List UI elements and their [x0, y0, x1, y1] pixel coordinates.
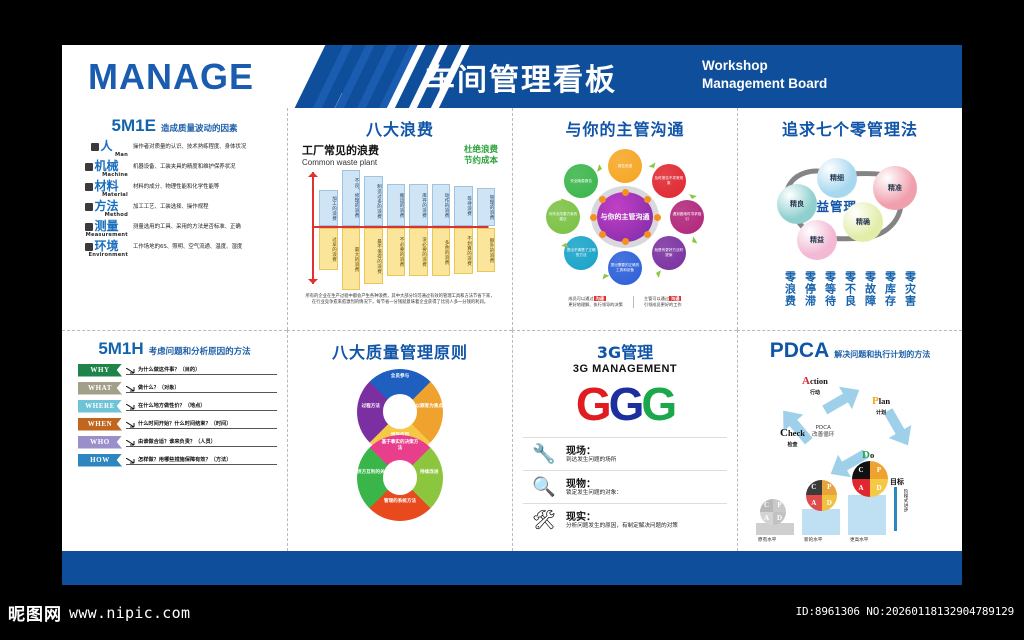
- panel-3g-title: 3G管理: [523, 339, 727, 363]
- kanban-board: MANAGE 车间管理看板 Workshop Management Board …: [62, 45, 962, 585]
- 5m1e-row: 方法Method加工工艺、工装选择、操作规程: [76, 200, 277, 218]
- zero-item: 零灾害: [904, 271, 917, 307]
- panel-pdca-heading: PDCA 解决问题和执行计划的方法: [748, 339, 952, 363]
- 5m1e-row: 材料Material材料的成分、物理性能和化学性能等: [76, 180, 277, 198]
- asset-id-text: ID:8961306 NO:20260118132904789129: [796, 605, 1014, 618]
- pdca-quadrant: C: [852, 461, 870, 479]
- 3g-item: 🛠现实：分析问题发生的原因，有制定解决问题的对策: [523, 503, 727, 536]
- pdca-quadrant: D: [870, 479, 888, 497]
- 3g-item-head: 现场：: [566, 442, 616, 457]
- pdca-step-letter: Plan: [872, 391, 890, 408]
- pdca-stair-label: 原有水平: [758, 537, 776, 543]
- 5m1e-label-cn: 人: [76, 140, 128, 152]
- 5w1h-tag: HOW: [78, 454, 122, 467]
- zero-item: 零不良: [844, 271, 857, 307]
- pdca-quadrant: D: [822, 495, 838, 511]
- waste-slogan: 杜绝浪费 节约成本: [464, 145, 498, 167]
- lean-sphere: 精良: [777, 184, 817, 224]
- ggg-letter: G: [641, 378, 674, 430]
- waste-bar: 等待浪费不划算的浪费: [453, 170, 474, 290]
- ggg-letter: G: [576, 378, 609, 430]
- communication-radial-diagram: 与你的主管沟通 报告进度及时报告不寻常现象遇到困难时寻求指引就是有更好方法时提案…: [525, 142, 725, 292]
- waste-bar: 加工的浪费过早的浪费: [318, 170, 339, 290]
- communication-node: 对作业改善方案的建议: [546, 200, 580, 234]
- waste-bar-bottom-label: 过早的浪费: [319, 228, 338, 270]
- panel-grid: 5M1E 造成质量波动的因素 人Man操作者对质量的认识、技术熟练程度、身体状况…: [62, 108, 962, 551]
- waste-bar: 动作的浪费多余的浪费: [431, 170, 452, 290]
- 5w1h-question: 在什么地方做性价？（地点）: [126, 402, 277, 411]
- lean-sphere: 精益: [797, 220, 837, 260]
- 5m1e-row: 环境Environment工作场地的6S、照明、空气流通、温度、湿度: [76, 240, 277, 258]
- 3g-item-desc: 锁定发生问题的对象：: [566, 490, 622, 498]
- pdca-step-letter: Action: [802, 371, 828, 388]
- ring-hole: [383, 394, 417, 428]
- site-logo: 昵图网: [8, 600, 62, 625]
- 5m1e-row-list: 人Man操作者对质量的认识、技术熟练程度、身体状况机械Machine机器设备、工…: [72, 140, 277, 258]
- zero-item: 零浪费: [784, 271, 797, 307]
- principle-label: 全员参与: [380, 374, 420, 380]
- waste-bar-bottom-label: 最不值得的浪费: [364, 228, 383, 284]
- panel-eight-wastes: 八大浪费 工厂常见的浪费 Common waste plant 杜绝浪费 节约成…: [287, 108, 512, 330]
- waste-bar-bottom-label: 多余的浪费: [432, 228, 451, 276]
- pdca-goal-label: 目标: [890, 477, 904, 487]
- principle-label: 与供方互利的关系: [351, 470, 391, 476]
- communication-caption-right: 主管可以通过沟通 引领成员更好的工作: [644, 296, 682, 308]
- 5w1h-question: 怎样做？用哪些措施保障有效？（方法）: [126, 456, 277, 465]
- 5w1h-question: 做什么？（对象）: [126, 384, 277, 393]
- 3g-item-text: 现物：锁定发生问题的对象：: [566, 475, 622, 498]
- waste-subtitle-block: 工厂常见的浪费 Common waste plant: [302, 142, 379, 167]
- 5w1h-row: WHAT做什么？（对象）: [78, 382, 277, 395]
- principle-label: 管理的系统方法: [380, 499, 420, 505]
- communication-arrow: [651, 268, 661, 278]
- pdca-quadrant-circle: CPAD: [852, 461, 888, 497]
- pdca-step: Check检查: [780, 423, 805, 448]
- ggg-logo: GGG: [523, 377, 727, 431]
- 3g-item-desc: 到达发生问题的场所: [566, 457, 616, 465]
- 5w1h-row: WHY为什么做这件事？（目的）: [78, 364, 277, 377]
- waste-bar-top-label: 等待浪费: [454, 186, 473, 226]
- waste-bar-top-label: 不良、修理的浪费: [342, 170, 361, 226]
- pdca-quadrant: A: [806, 495, 822, 511]
- waste-bar: 不良、修理的浪费最大的浪费: [341, 170, 362, 290]
- waste-bar: 管理的浪费额外的浪费: [476, 170, 497, 290]
- communication-node: 报告进度: [608, 149, 642, 183]
- panel-communication: 与你的主管沟通 与你的主管沟通 报告进度及时报告不寻常现象遇到困难时寻求指引就是…: [512, 108, 737, 330]
- lean-sphere: 精准: [873, 166, 917, 210]
- waste-chart: 加工的浪费过早的浪费不良、修理的浪费最大的浪费制造过多的浪费最不值得的浪费搬运的…: [298, 170, 502, 290]
- 5w1h-line: 怎样做？用哪些措施保障有效？（方法）: [126, 456, 277, 465]
- pdca-quadrant: A: [852, 479, 870, 497]
- arrow-icon: [126, 386, 136, 392]
- pdca-stair: [802, 509, 840, 535]
- caption-right-pre: 主管可以通过: [644, 296, 669, 301]
- waste-note: 所有的企业在生产过程中都会产生各种浪费，其中大部分均可通过有效的管理工具和方法节…: [298, 294, 502, 306]
- communication-captions: 成员可以通过沟通 更好地理解、执行领导的决策 主管可以通过沟通 引领成员更好的工…: [523, 296, 727, 308]
- pdca-step-cn: 计划: [872, 409, 890, 416]
- waste-subtitle-en: Common waste plant: [302, 158, 379, 167]
- waste-slogan-line1: 杜绝浪费: [464, 145, 498, 156]
- panel-pdca-code: PDCA: [770, 339, 830, 363]
- seven-zero-list: 零浪费零停滞零等待零不良零故障零库存零灾害: [748, 271, 952, 307]
- principle-label: 过程方法: [351, 404, 391, 410]
- arrow-icon: [126, 440, 136, 446]
- panel-3g: 3G管理 3G MANAGEMENT GGG 🔧现场：到达发生问题的场所🔍现物：…: [512, 330, 737, 552]
- waste-slogan-line2: 节约成本: [464, 156, 498, 167]
- ring-hole: [383, 460, 417, 494]
- 5m1e-label-en: Machine: [76, 172, 128, 178]
- 5m1e-description: 操作者对质量的认识、技术熟练程度、身体状况: [133, 140, 246, 151]
- worker-analyze-icon: 🛠: [529, 508, 559, 532]
- 5w1h-tag: WHERE: [78, 400, 122, 413]
- pdca-step-letter: Do: [862, 445, 874, 462]
- principle-label: 基于事实的决策方法: [380, 440, 420, 451]
- panel-pdca: PDCA 解决问题和执行计划的方法 PDCA 改善循环 Action行动Plan…: [737, 330, 962, 552]
- 5m1e-description: 测量选用的工具、采用的方法是否标准、正确: [133, 220, 241, 231]
- 5m1e-label-cn: 环境: [76, 240, 128, 252]
- panel-seven-title: 追求七个零管理法: [748, 116, 952, 140]
- 3g-item-desc: 分析问题发生的原因，有制定解决问题的对策: [566, 523, 678, 531]
- communication-node: 提出需要的正确的工具和设备: [608, 251, 642, 285]
- 5w1h-line: 什么时间开始？什么时间结束？（时间）: [126, 420, 277, 429]
- waste-bar-top-label: 动作的浪费: [432, 184, 451, 226]
- 3g-item-text: 现实：分析问题发生的原因，有制定解决问题的对策: [566, 508, 678, 531]
- 5m1e-description: 加工工艺、工装选择、操作规程: [133, 200, 208, 211]
- 5w1h-question: 什么时间开始？什么时间结束？（时间）: [126, 420, 277, 429]
- 5m1e-icon-material-icon: 材料Material: [76, 180, 128, 198]
- waste-chart-y-axis: [312, 172, 314, 284]
- communication-connector-dot: [644, 196, 651, 203]
- 5m1e-label-en: Measurement: [76, 232, 128, 238]
- 5w1h-line: 在什么地方做性价？（地点）: [126, 402, 277, 411]
- communication-node: 就是有更好方法时提案: [652, 236, 686, 270]
- caption-right-post: 引领成员更好的工作: [644, 302, 682, 308]
- 5m1e-description: 材料的成分、物理性能和化学性能等: [133, 180, 219, 191]
- communication-node: 安全隐患报告: [564, 164, 598, 198]
- waste-bar-top-label: 管理的浪费: [477, 188, 496, 226]
- pdca-diagram: PDCA 改善循环 Action行动Plan计划Do实施Check检查CPAD原…: [750, 363, 950, 543]
- 5m1e-icon-measurement-icon: 测量Measurement: [76, 220, 128, 238]
- pdca-stair: [848, 495, 886, 535]
- pdca-goal-arrow: [894, 487, 897, 531]
- communication-arrow: [598, 164, 608, 174]
- waste-bar-top-label: 加工的浪费: [319, 190, 338, 226]
- principles-figure8: 以顾客为焦点领导作用过程方法全员参与持续改进管理的系统方法与供方互利的关系基于事…: [340, 369, 460, 519]
- pdca-quadrant-circle: CPAD: [760, 499, 786, 525]
- title-en-line2: Management Board: [702, 75, 827, 93]
- panel-5w1h: 5M1H 考虑问题和分析原因的方法 WHY为什么做这件事？（目的）WHAT做什么…: [62, 330, 287, 552]
- caption-left-pre: 成员可以通过: [568, 296, 593, 301]
- waste-bar-bottom-label: 不必要的浪费: [387, 228, 406, 276]
- communication-node: 遇到困难时寻求指引: [670, 200, 704, 234]
- communication-connector-dot: [654, 214, 661, 221]
- pdca-step: Plan计划: [872, 391, 890, 416]
- arrow-icon: [126, 422, 136, 428]
- panel-seven-zeros: 追求七个零管理法 精益管理 精细精准精良精确精益 零浪费零停滞零等待零不良零故障…: [737, 108, 962, 330]
- panel-3g-title-en: 3G MANAGEMENT: [523, 363, 727, 375]
- pdca-quadrant: D: [773, 512, 786, 525]
- arrow-icon: [126, 458, 136, 464]
- page-title-english: Workshop Management Board: [702, 57, 827, 93]
- waste-bar-top-label: 库存的浪费: [409, 184, 428, 226]
- 5w1h-tag: WHY: [78, 364, 122, 377]
- principle-label: 以顾客为焦点: [409, 404, 449, 410]
- ggg-letter: G: [609, 378, 642, 430]
- pdca-stair-label: 更高水平: [850, 537, 868, 543]
- principles-ring: 持续改进管理的系统方法与供方互利的关系基于事实的决策方法: [357, 435, 443, 521]
- caption-divider: [633, 296, 634, 308]
- arrow-icon: [126, 404, 136, 410]
- 5w1h-row: WHEN什么时间开始？什么时间结束？（时间）: [78, 418, 277, 431]
- waste-bar: 制造过多的浪费最不值得的浪费: [363, 170, 384, 290]
- communication-connector-dot: [599, 231, 606, 238]
- caption-right-highlight: 沟通: [669, 296, 681, 301]
- communication-connector-dot: [622, 189, 629, 196]
- 5w1h-tag: WHO: [78, 436, 122, 449]
- 5w1h-row-list: WHY为什么做这件事？（目的）WHAT做什么？（对象）WHERE在什么地方做性价…: [72, 364, 277, 467]
- communication-connector-dot: [622, 238, 629, 245]
- lean-sphere: 精确: [843, 202, 883, 242]
- panel-5m1e-code: 5M1E: [112, 116, 156, 136]
- worker-wrench-icon: 🔧: [529, 442, 559, 466]
- pdca-quadrant: P: [773, 499, 786, 512]
- 5m1e-description: 工作场地的6S、照明、空气流通、温度、湿度: [133, 240, 242, 251]
- panel-5w1h-subtitle: 考虑问题和分析原因的方法: [149, 345, 251, 357]
- panel-5w1h-heading: 5M1H 考虑问题和分析原因的方法: [72, 339, 277, 359]
- caption-left-post: 更好地理解、执行领导的决策: [568, 302, 622, 308]
- pdca-quadrant: C: [806, 480, 822, 496]
- zero-item: 零等待: [824, 271, 837, 307]
- board-footer-bar: [62, 551, 962, 585]
- waste-bar: 库存的浪费没必要的浪费: [408, 170, 429, 290]
- pdca-quadrant: P: [870, 461, 888, 479]
- brand-manage: MANAGE: [88, 56, 254, 98]
- 5m1e-label-en: Environment: [76, 252, 128, 258]
- waste-subtitle-cn: 工厂常见的浪费: [302, 142, 379, 158]
- pdca-quadrant: P: [822, 480, 838, 496]
- 5w1h-row: WHERE在什么地方做性价？（地点）: [78, 400, 277, 413]
- pdca-quadrant: C: [760, 499, 773, 512]
- 5w1h-line: 由谁做合适？谁来负责？（人员）: [126, 438, 277, 447]
- waste-bar: 搬运的浪费不必要的浪费: [386, 170, 407, 290]
- 5w1h-tag: WHEN: [78, 418, 122, 431]
- caption-left-highlight: 沟通: [594, 296, 606, 301]
- communication-connector-dot: [644, 231, 651, 238]
- 5m1e-icon-machine-icon: 机械Machine: [76, 160, 128, 178]
- 5m1e-description: 机器设备、工装夹具的精度和维护保养状况: [133, 160, 235, 171]
- pdca-quadrant-circle: CPAD: [806, 480, 837, 511]
- panel-communication-title: 与你的主管沟通: [523, 116, 727, 140]
- 5m1e-icon-method-icon: 方法Method: [76, 200, 128, 218]
- arrow-icon: [126, 368, 136, 374]
- waste-bar-bottom-label: 最大的浪费: [342, 228, 361, 290]
- 5w1h-row: HOW怎样做？用哪些措施保障有效？（方法）: [78, 454, 277, 467]
- zero-item: 零停滞: [804, 271, 817, 307]
- waste-bar-top-label: 搬运的浪费: [387, 184, 406, 226]
- waste-bar-bottom-label: 额外的浪费: [477, 228, 496, 272]
- communication-connector-dot: [599, 196, 606, 203]
- pdca-step-cn: 检查: [780, 441, 805, 448]
- 3g-item: 🔧现场：到达发生问题的场所: [523, 437, 727, 470]
- pdca-step-letter: Check: [780, 423, 805, 440]
- 5w1h-row: WHO由谁做合适？谁来负责？（人员）: [78, 436, 277, 449]
- 5w1h-question: 由谁做合适？谁来负责？（人员）: [126, 438, 277, 447]
- panel-5m1e-subtitle: 造成质量波动的因素: [161, 122, 238, 134]
- lean-sphere: 精细: [817, 158, 857, 198]
- pdca-quadrant: A: [760, 512, 773, 525]
- panel-5w1h-code: 5M1H: [98, 339, 143, 359]
- 5m1e-row: 人Man操作者对质量的认识、技术熟练程度、身体状况: [76, 140, 277, 158]
- waste-bar-top-label: 制造过多的浪费: [364, 176, 383, 226]
- principle-label: 持续改进: [409, 470, 449, 476]
- 5w1h-line: 做什么？（对象）: [126, 384, 277, 393]
- zero-item: 零库存: [884, 271, 897, 307]
- site-url[interactable]: www.nipic.com: [69, 604, 190, 622]
- panel-eight-principles: 八大质量管理原则 以顾客为焦点领导作用过程方法全员参与持续改进管理的系统方法与供…: [287, 330, 512, 552]
- panel-5m1e: 5M1E 造成质量波动的因素 人Man操作者对质量的认识、技术熟练程度、身体状况…: [62, 108, 287, 330]
- communication-node: 及时报告不寻常现象: [652, 164, 686, 198]
- 5m1e-row: 机械Machine机器设备、工装夹具的精度和维护保养状况: [76, 160, 277, 178]
- panel-5m1e-heading: 5M1E 造成质量波动的因素: [72, 116, 277, 136]
- page-title: 车间管理看板: [425, 55, 617, 99]
- 5m1e-label-cn: 机械: [76, 160, 128, 172]
- communication-connector-dot: [590, 214, 597, 221]
- pdca-side-label: 阶梯式进步: [902, 489, 908, 512]
- 3g-item-head: 现实：: [566, 508, 678, 523]
- 5m1e-icon-man-icon: 人Man: [76, 140, 128, 158]
- 3g-item-list: 🔧现场：到达发生问题的场所🔍现物：锁定发生问题的对象：🛠现实：分析问题发生的原因…: [523, 437, 727, 536]
- title-en-line1: Workshop: [702, 57, 827, 75]
- waste-bar-bottom-label: 没必要的浪费: [409, 228, 428, 276]
- worker-inspect-icon: 🔍: [529, 475, 559, 499]
- 3g-item-head: 现物：: [566, 475, 622, 490]
- pdca-stair-label: 新的水平: [804, 537, 822, 543]
- pdca-step: Action行动: [802, 371, 828, 396]
- 5m1e-label-en: Material: [76, 192, 128, 198]
- 5m1e-icon-environment-icon: 环境Environment: [76, 240, 128, 258]
- watermark-left: 昵图网 www.nipic.com: [8, 600, 190, 625]
- panel-pdca-subtitle: 解决问题和执行计划的方法: [834, 349, 930, 360]
- panel-waste-title: 八大浪费: [298, 116, 502, 140]
- 5m1e-label-cn: 测量: [76, 220, 128, 232]
- panel-principles-title: 八大质量管理原则: [298, 339, 502, 363]
- zero-item: 零故障: [864, 271, 877, 307]
- communication-arrow: [687, 237, 698, 248]
- 5w1h-line: 为什么做这件事？（目的）: [126, 366, 277, 375]
- waste-bar-list: 加工的浪费过早的浪费不良、修理的浪费最大的浪费制造过多的浪费最不值得的浪费搬运的…: [318, 170, 496, 290]
- 5m1e-label-cn: 方法: [76, 200, 128, 212]
- lean-sphere-diagram: 精益管理 精细精准精良精确精益: [755, 144, 945, 269]
- 5w1h-question: 为什么做这件事？（目的）: [126, 366, 277, 375]
- pdca-step-cn: 行动: [802, 389, 828, 396]
- 5m1e-row: 测量Measurement测量选用的工具、采用的方法是否标准、正确: [76, 220, 277, 238]
- communication-caption-left: 成员可以通过沟通 更好地理解、执行领导的决策: [568, 296, 622, 308]
- 3g-item: 🔍现物：锁定发生问题的对象：: [523, 470, 727, 503]
- 3g-item-text: 现场：到达发生问题的场所: [566, 442, 616, 465]
- 5w1h-tag: WHAT: [78, 382, 122, 395]
- 5m1e-label-cn: 材料: [76, 180, 128, 192]
- watermark-footer: 昵图网 www.nipic.com ID:8961306 NO:20260118…: [0, 588, 1024, 640]
- board-header: MANAGE 车间管理看板 Workshop Management Board: [62, 45, 962, 108]
- waste-bar-bottom-label: 不划算的浪费: [454, 228, 473, 274]
